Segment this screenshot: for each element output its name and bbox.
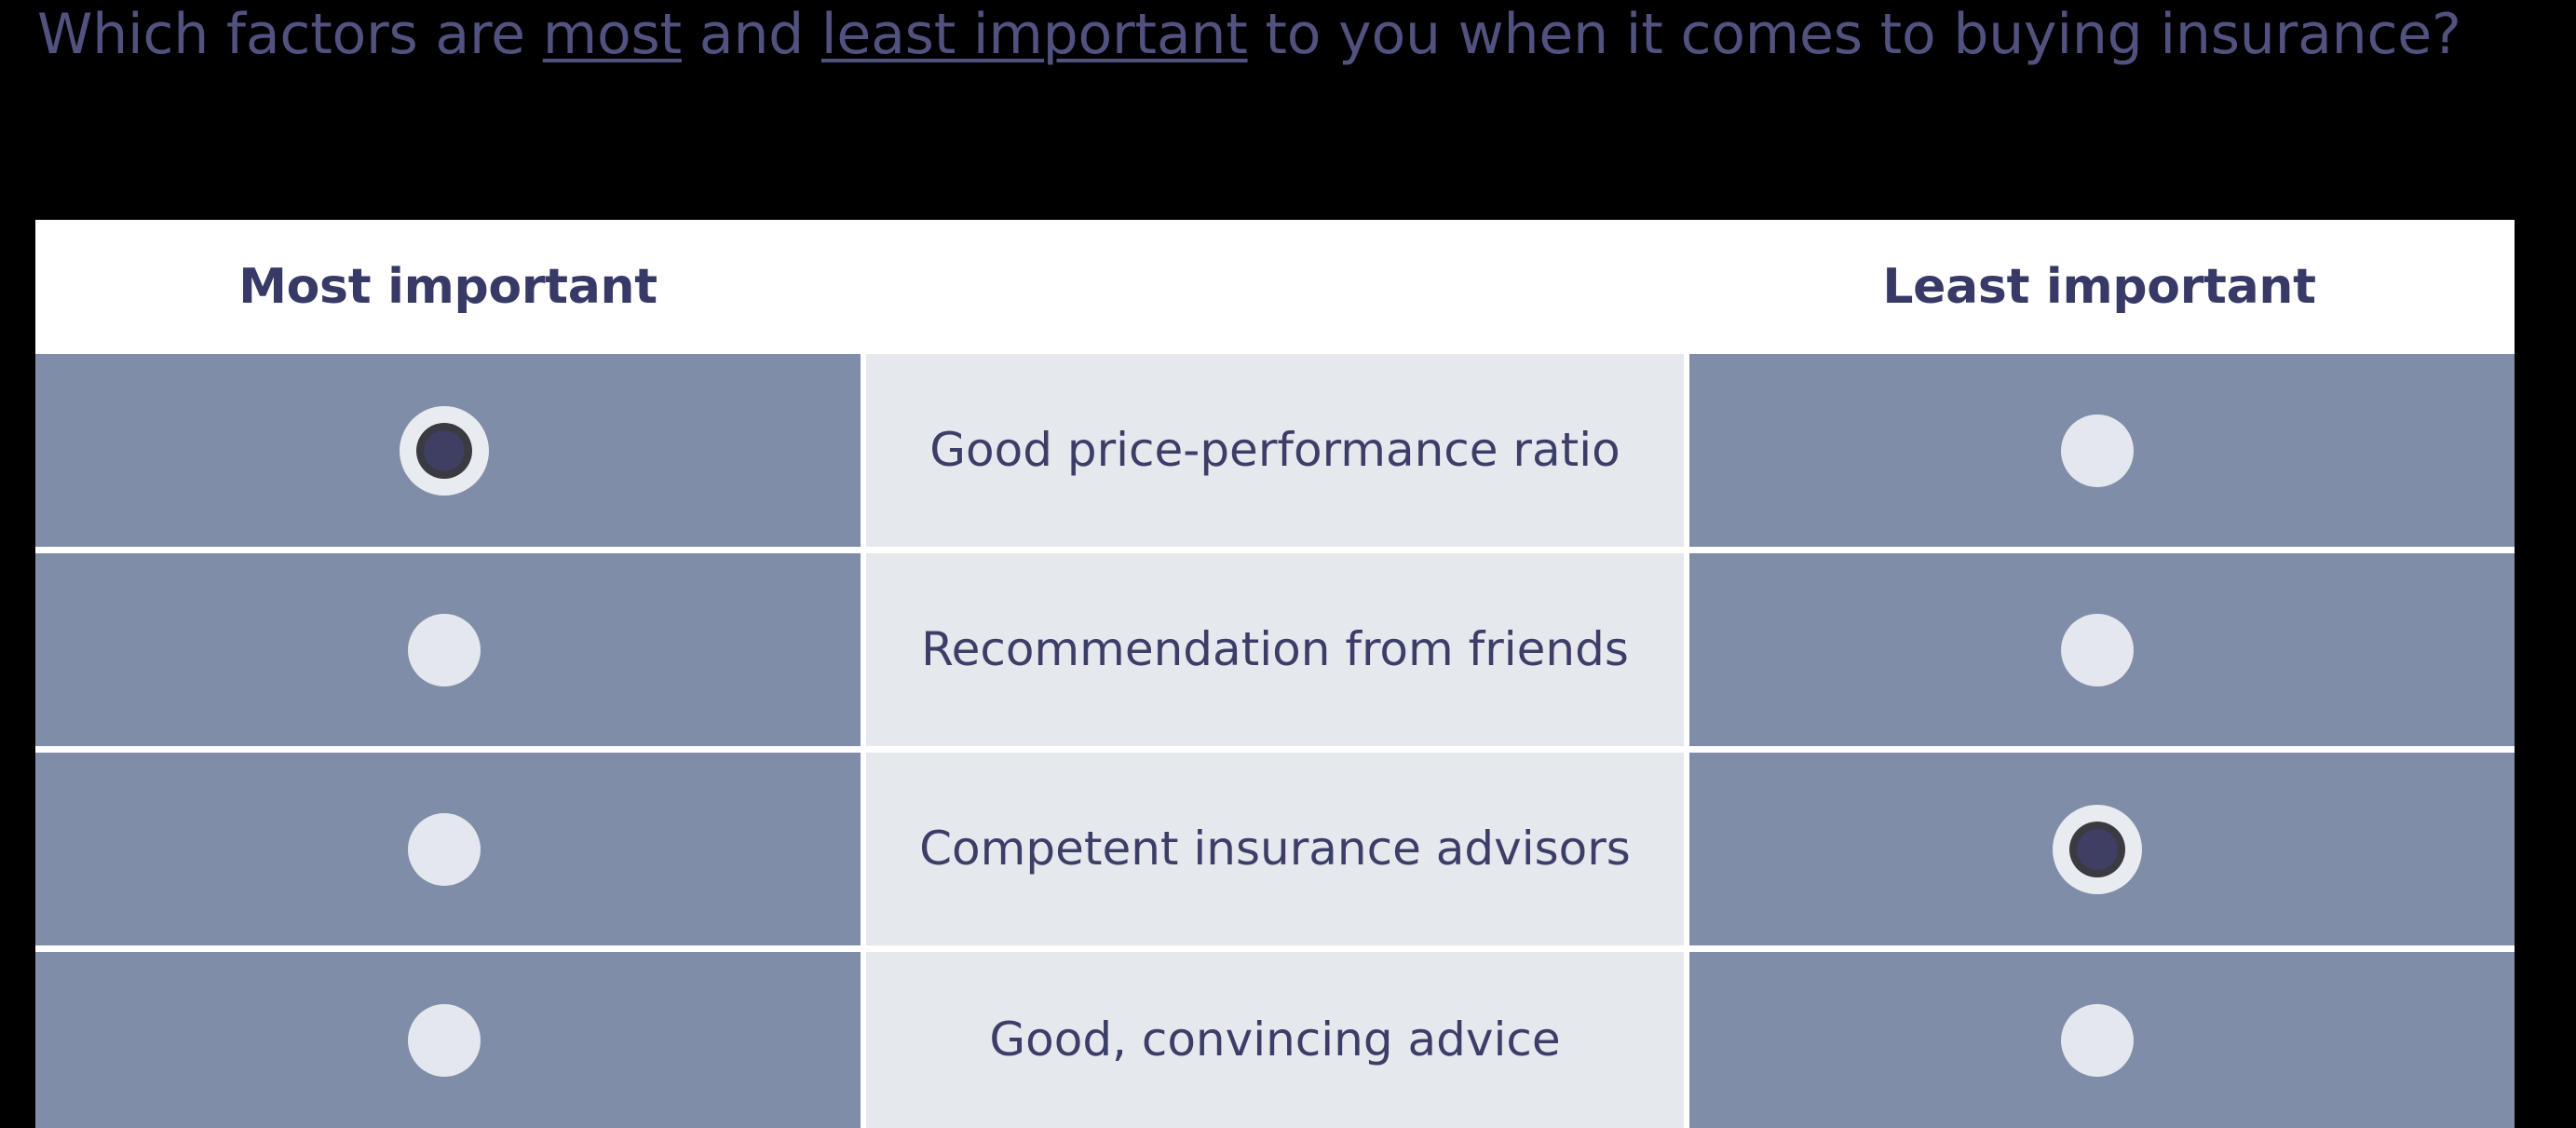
radio-cell-most-row-3[interactable] (35, 753, 861, 945)
title-emphasis-least-important: least important (821, 2, 1248, 67)
rating-matrix-table: Most important Least important Good pric… (35, 220, 2515, 1128)
radio-cell-least-row-2[interactable] (1689, 553, 2515, 746)
radio-cell-least-row-3[interactable] (1689, 753, 2515, 945)
column-header-most-important: Most important (35, 220, 861, 354)
title-emphasis-most: most (543, 2, 682, 67)
table-row: Good, convincing advice (35, 952, 2515, 1128)
row-label-4: Good, convincing advice (866, 952, 1684, 1128)
radio-selected-icon[interactable] (400, 406, 489, 496)
row-label-3: Competent insurance advisors (866, 753, 1684, 945)
radio-cell-least-row-4[interactable] (1689, 952, 2515, 1128)
radio-dot (424, 430, 465, 471)
title-text-3: to you when it comes to buying insurance… (1248, 2, 2461, 67)
radio-ring (416, 423, 472, 479)
page-title: Which factors are most and least importa… (37, 6, 2477, 63)
column-header-item (861, 220, 1684, 354)
radio-unselected-icon[interactable] (408, 813, 481, 886)
radio-unselected-icon[interactable] (2061, 415, 2134, 487)
column-header-least-important: Least important (1684, 220, 2515, 354)
matrix-header-row: Most important Least important (35, 220, 2515, 354)
row-label-2: Recommendation from friends (866, 553, 1684, 746)
radio-cell-most-row-4[interactable] (35, 952, 861, 1128)
radio-unselected-icon[interactable] (408, 614, 481, 686)
title-text-2: and (682, 2, 821, 67)
radio-ring (2069, 822, 2125, 877)
table-row: Competent insurance advisors (35, 753, 2515, 945)
radio-selected-icon[interactable] (2053, 805, 2142, 894)
title-text-1: Which factors are (37, 2, 543, 67)
radio-cell-most-row-1[interactable] (35, 354, 861, 547)
radio-unselected-icon[interactable] (2061, 1004, 2134, 1077)
radio-unselected-icon[interactable] (408, 1004, 481, 1077)
table-row: Recommendation from friends (35, 553, 2515, 746)
row-label-1: Good price-performance ratio (866, 354, 1684, 547)
matrix-body: Good price-performance ratio Recommendat… (35, 354, 2515, 1128)
radio-dot (2077, 829, 2118, 870)
radio-cell-most-row-2[interactable] (35, 553, 861, 746)
radio-unselected-icon[interactable] (2061, 614, 2134, 686)
table-row: Good price-performance ratio (35, 354, 2515, 547)
radio-cell-least-row-1[interactable] (1689, 354, 2515, 547)
